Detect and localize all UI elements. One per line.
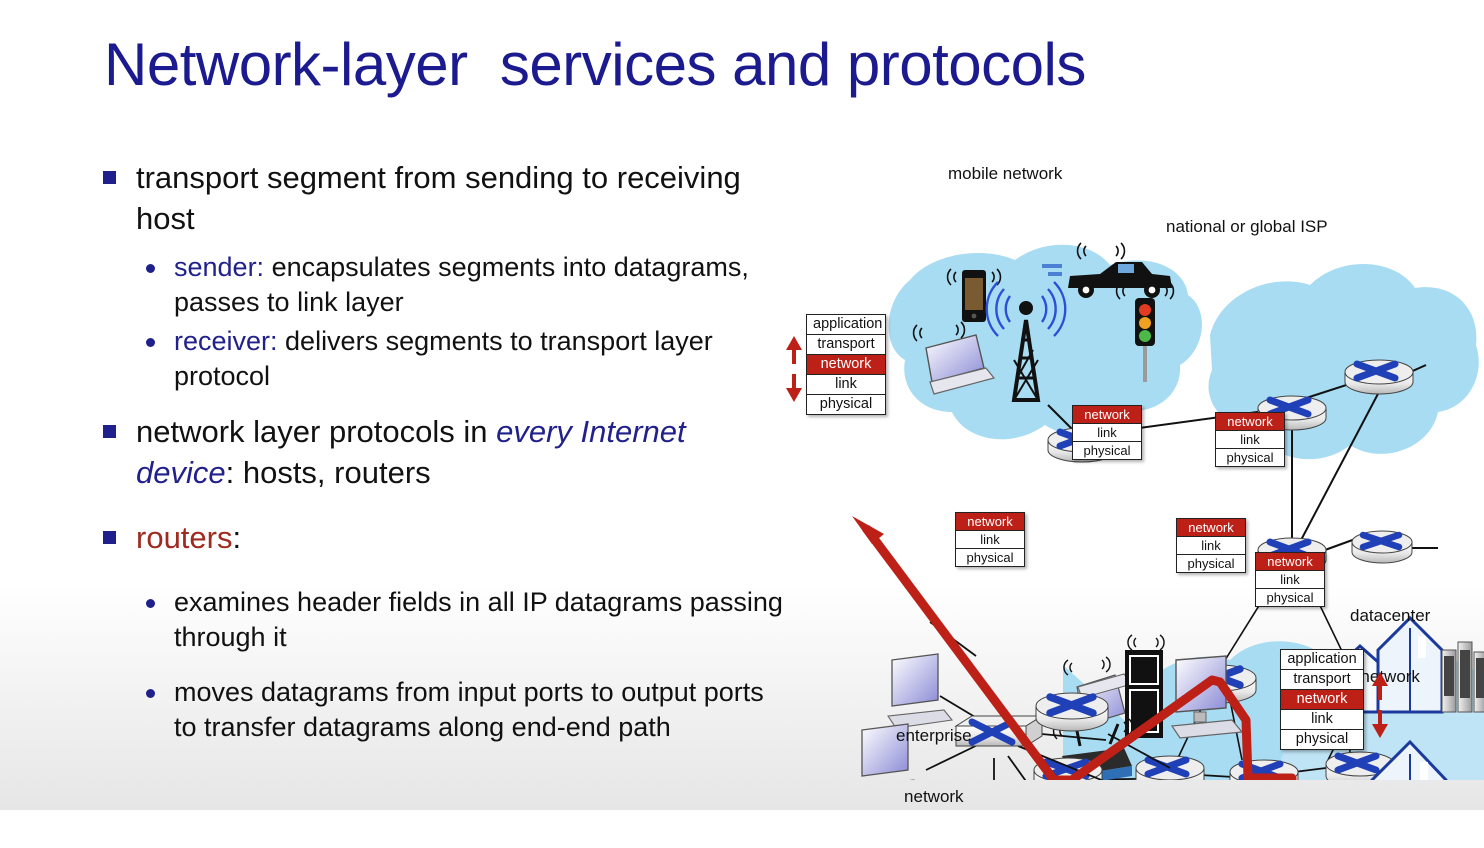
bullet-transport-segment: transport segment from sending to receiv… xyxy=(100,158,790,240)
bullet-text: moves datagrams from input ports to outp… xyxy=(174,675,790,745)
stack-layer-network: network xyxy=(1216,413,1284,431)
bullet-text: examines header fields in all IP datagra… xyxy=(174,585,790,655)
bullet-routers: routers: xyxy=(100,518,790,559)
arrow-up-icon xyxy=(786,336,802,364)
stack-layer-physical: physical xyxy=(1256,589,1324,606)
stack-layer-link: link xyxy=(1073,424,1141,442)
stack-layer-application: application xyxy=(807,315,885,335)
stack-layer-network: network xyxy=(807,355,885,375)
router-enterprise-mid xyxy=(1036,693,1108,731)
server-rack-top xyxy=(1442,642,1484,712)
stack-layer-network: network xyxy=(1281,690,1363,710)
router-stack-mid: network link physical xyxy=(1176,518,1246,573)
wifi-waves-fridge xyxy=(1128,635,1164,650)
host-stack-left: application transport network link physi… xyxy=(806,314,886,415)
router-isp-4 xyxy=(1352,531,1412,563)
bullet-text-post: : hosts, routers xyxy=(226,455,431,490)
bullet-text-pre: network layer protocols in xyxy=(136,414,496,449)
router-stack-lower-right: network link physical xyxy=(1255,552,1325,607)
slide: Network-layer services and protocols tra… xyxy=(0,0,1484,810)
spacer xyxy=(100,569,790,583)
stack-layer-physical: physical xyxy=(1073,442,1141,459)
bullet-text: : xyxy=(232,520,241,555)
stack-layer-transport: transport xyxy=(1281,670,1363,690)
arrow-up-icon xyxy=(1372,672,1388,700)
square-bullet-icon xyxy=(103,425,116,438)
stack-layer-link: link xyxy=(1281,710,1363,730)
host-stack-right: application transport network link physi… xyxy=(1280,649,1364,750)
bullet-text: transport segment from sending to receiv… xyxy=(136,158,790,240)
stack-layer-physical: physical xyxy=(1177,555,1245,572)
page-title: Network-layer services and protocols xyxy=(104,33,1086,96)
stack-layer-link: link xyxy=(956,531,1024,549)
stack-layer-network: network xyxy=(956,513,1024,531)
round-bullet-icon xyxy=(146,338,155,347)
label-mobile-network: mobile network xyxy=(948,164,1062,184)
stack-layer-physical: physical xyxy=(1281,730,1363,749)
router-stack-home: network link physical xyxy=(955,512,1025,567)
square-bullet-icon xyxy=(103,531,116,544)
stack-layer-physical: physical xyxy=(1216,449,1284,466)
router-isp-2 xyxy=(1345,360,1413,394)
router-stack-core-right: network link physical xyxy=(1215,412,1285,467)
round-bullet-icon xyxy=(146,599,155,608)
spacer xyxy=(100,659,790,673)
arrow-down-icon xyxy=(786,374,802,402)
stack-layer-link: link xyxy=(1177,537,1245,555)
spacer xyxy=(100,504,790,518)
bullet-list: transport segment from sending to receiv… xyxy=(100,158,790,749)
label-enterprise-line2: network xyxy=(896,787,972,807)
stack-layer-network: network xyxy=(1256,553,1324,571)
host-stack-right-arrows xyxy=(1370,672,1390,738)
bullet-moves-datagrams: moves datagrams from input ports to outp… xyxy=(100,675,790,745)
bullet-lead: routers xyxy=(136,520,232,555)
host-stack-left-arrows xyxy=(784,336,804,402)
stack-layer-application: application xyxy=(1281,650,1363,670)
spacer xyxy=(100,398,790,412)
arrow-down-icon xyxy=(1372,710,1388,738)
stack-layer-link: link xyxy=(1256,571,1324,589)
stack-layer-physical: physical xyxy=(956,549,1024,566)
label-enterprise-network: enterprise network xyxy=(896,685,972,848)
bullet-network-layer-protocols: network layer protocols in every Interne… xyxy=(100,412,790,494)
bullet-receiver: receiver: delivers segments to transport… xyxy=(100,324,790,394)
bullet-lead: receiver: xyxy=(174,326,278,356)
bullet-examines-header: examines header fields in all IP datagra… xyxy=(100,585,790,655)
stack-layer-physical: physical xyxy=(807,395,885,414)
network-diagram: mobile network national or global ISP en… xyxy=(780,160,1484,780)
round-bullet-icon xyxy=(146,264,155,273)
stack-layer-network: network xyxy=(1073,406,1141,424)
round-bullet-icon xyxy=(146,689,155,698)
stack-layer-transport: transport xyxy=(807,335,885,355)
stack-layer-network: network xyxy=(1177,519,1245,537)
square-bullet-icon xyxy=(103,171,116,184)
stack-layer-link: link xyxy=(1216,431,1284,449)
stack-layer-link: link xyxy=(807,375,885,395)
router-stack-core-left: network link physical xyxy=(1072,405,1142,460)
label-isp: national or global ISP xyxy=(1166,217,1328,237)
label-enterprise-line1: enterprise xyxy=(896,726,972,746)
label-datacenter-line1: datacenter xyxy=(1350,606,1430,626)
bullet-lead: sender: xyxy=(174,252,264,282)
bullet-sender: sender: encapsulates segments into datag… xyxy=(100,250,790,320)
smartphone-icon xyxy=(962,270,986,322)
